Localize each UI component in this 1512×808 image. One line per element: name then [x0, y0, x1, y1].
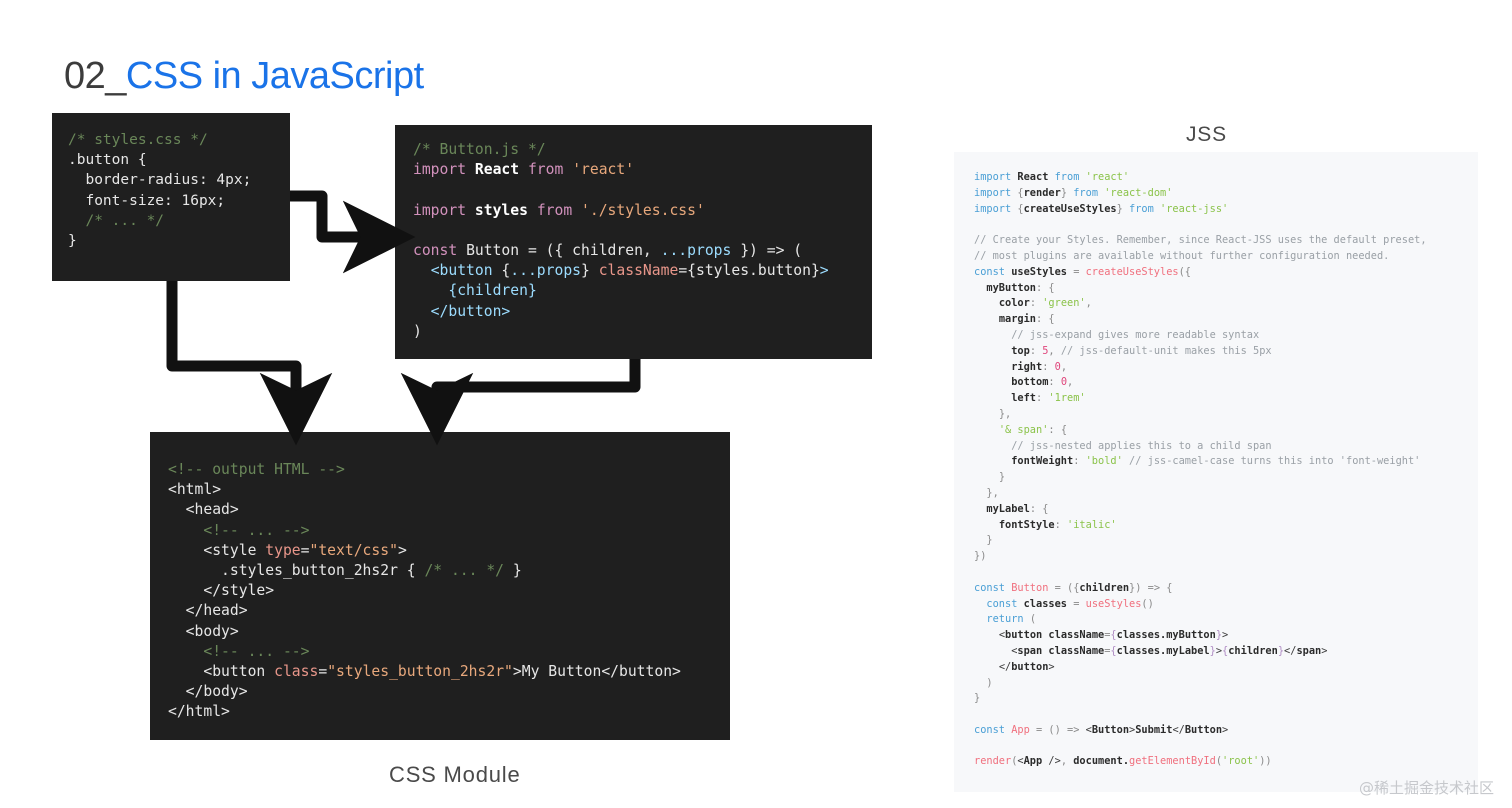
code-block-jss: import React from 'react' import {render…: [954, 152, 1478, 792]
arrow-button-js-to-output-html: [437, 359, 635, 408]
arrow-styles-css-to-button-js: [290, 196, 378, 237]
code-block-output-html: <!-- output HTML --> <html> <head> <!-- …: [150, 432, 730, 740]
page-title: 02_CSS in JavaScript: [64, 55, 424, 98]
caption-jss: JSS: [1186, 123, 1227, 147]
code-block-styles-css: /* styles.css */ .button { border-radius…: [52, 113, 290, 281]
code-block-button-js: /* Button.js */ import React from 'react…: [395, 125, 872, 359]
arrow-styles-css-to-output-html: [172, 281, 296, 408]
slide-canvas: 02_CSS in JavaScript /* styles.css */ .b…: [0, 0, 1512, 808]
caption-css-module: CSS Module: [389, 762, 521, 788]
watermark: @稀土掘金技术社区: [1359, 777, 1494, 798]
page-title-text: CSS in JavaScript: [126, 55, 424, 97]
page-title-number: 02_: [64, 55, 126, 97]
